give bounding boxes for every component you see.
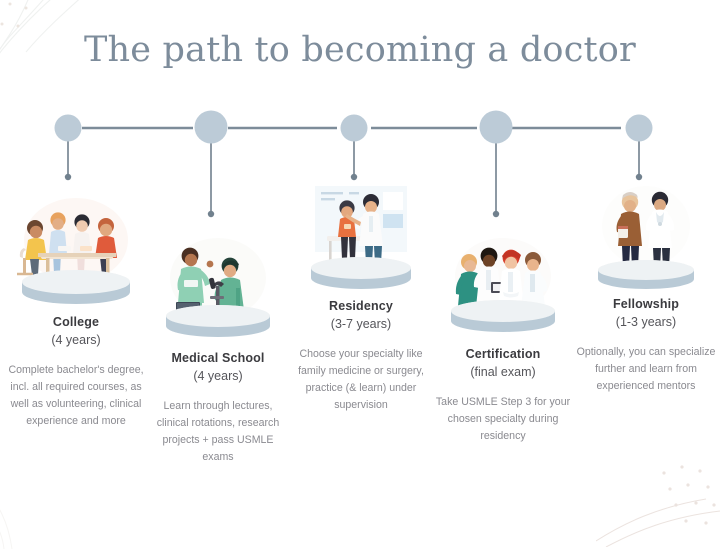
stage-fellowship: Fellowship (1-3 years) Optionally, you c… (572, 178, 720, 395)
stage-medical-school: Medical School (4 years) Learn through l… (144, 232, 292, 467)
timeline-node-2[interactable] (195, 111, 228, 144)
timeline-node-4[interactable] (480, 111, 513, 144)
timeline-stem-dot-1 (65, 174, 71, 180)
stage-title: Fellowship (572, 296, 720, 313)
stage-title: College (2, 314, 150, 331)
timeline-node-5[interactable] (626, 115, 653, 142)
page-title: The path to becoming a doctor (0, 30, 720, 70)
stage-description: Learn through lectures, clinical rotatio… (144, 398, 292, 467)
stage-duration: (1-3 years) (572, 313, 720, 331)
stage-duration: (3-7 years) (287, 315, 435, 333)
stage-description: Complete bachelor's degree, incl. all re… (2, 362, 150, 431)
timeline-node-3[interactable] (341, 115, 368, 142)
illustration-certification (429, 228, 577, 346)
stage-title: Medical School (144, 350, 292, 367)
illustration-fellowship (572, 178, 720, 296)
stage-description: Take USMLE Step 3 for your chosen specia… (429, 394, 577, 445)
stage-certification: Certification (final exam) Take USMLE St… (429, 228, 577, 445)
stage-title: Certification (429, 346, 577, 363)
stage-title: Residency (287, 298, 435, 315)
timeline-stem-dot-2 (208, 211, 214, 217)
stage-duration: (final exam) (429, 363, 577, 381)
stage-duration: (4 years) (144, 367, 292, 385)
illustration-medical-school (144, 232, 292, 350)
stage-college: College (4 years) Complete bachelor's de… (2, 196, 150, 431)
stage-description: Optionally, you can specialize further a… (572, 344, 720, 395)
stage-duration: (4 years) (2, 331, 150, 349)
timeline-stem-dot-4 (493, 211, 499, 217)
illustration-residency (287, 180, 435, 298)
stage-residency: Residency (3-7 years) Choose your specia… (287, 180, 435, 415)
decorative-dots-bottom-right (596, 437, 720, 547)
stage-description: Choose your specialty like family medici… (287, 346, 435, 415)
timeline-node-1[interactable] (55, 115, 82, 142)
illustration-college (2, 196, 150, 314)
